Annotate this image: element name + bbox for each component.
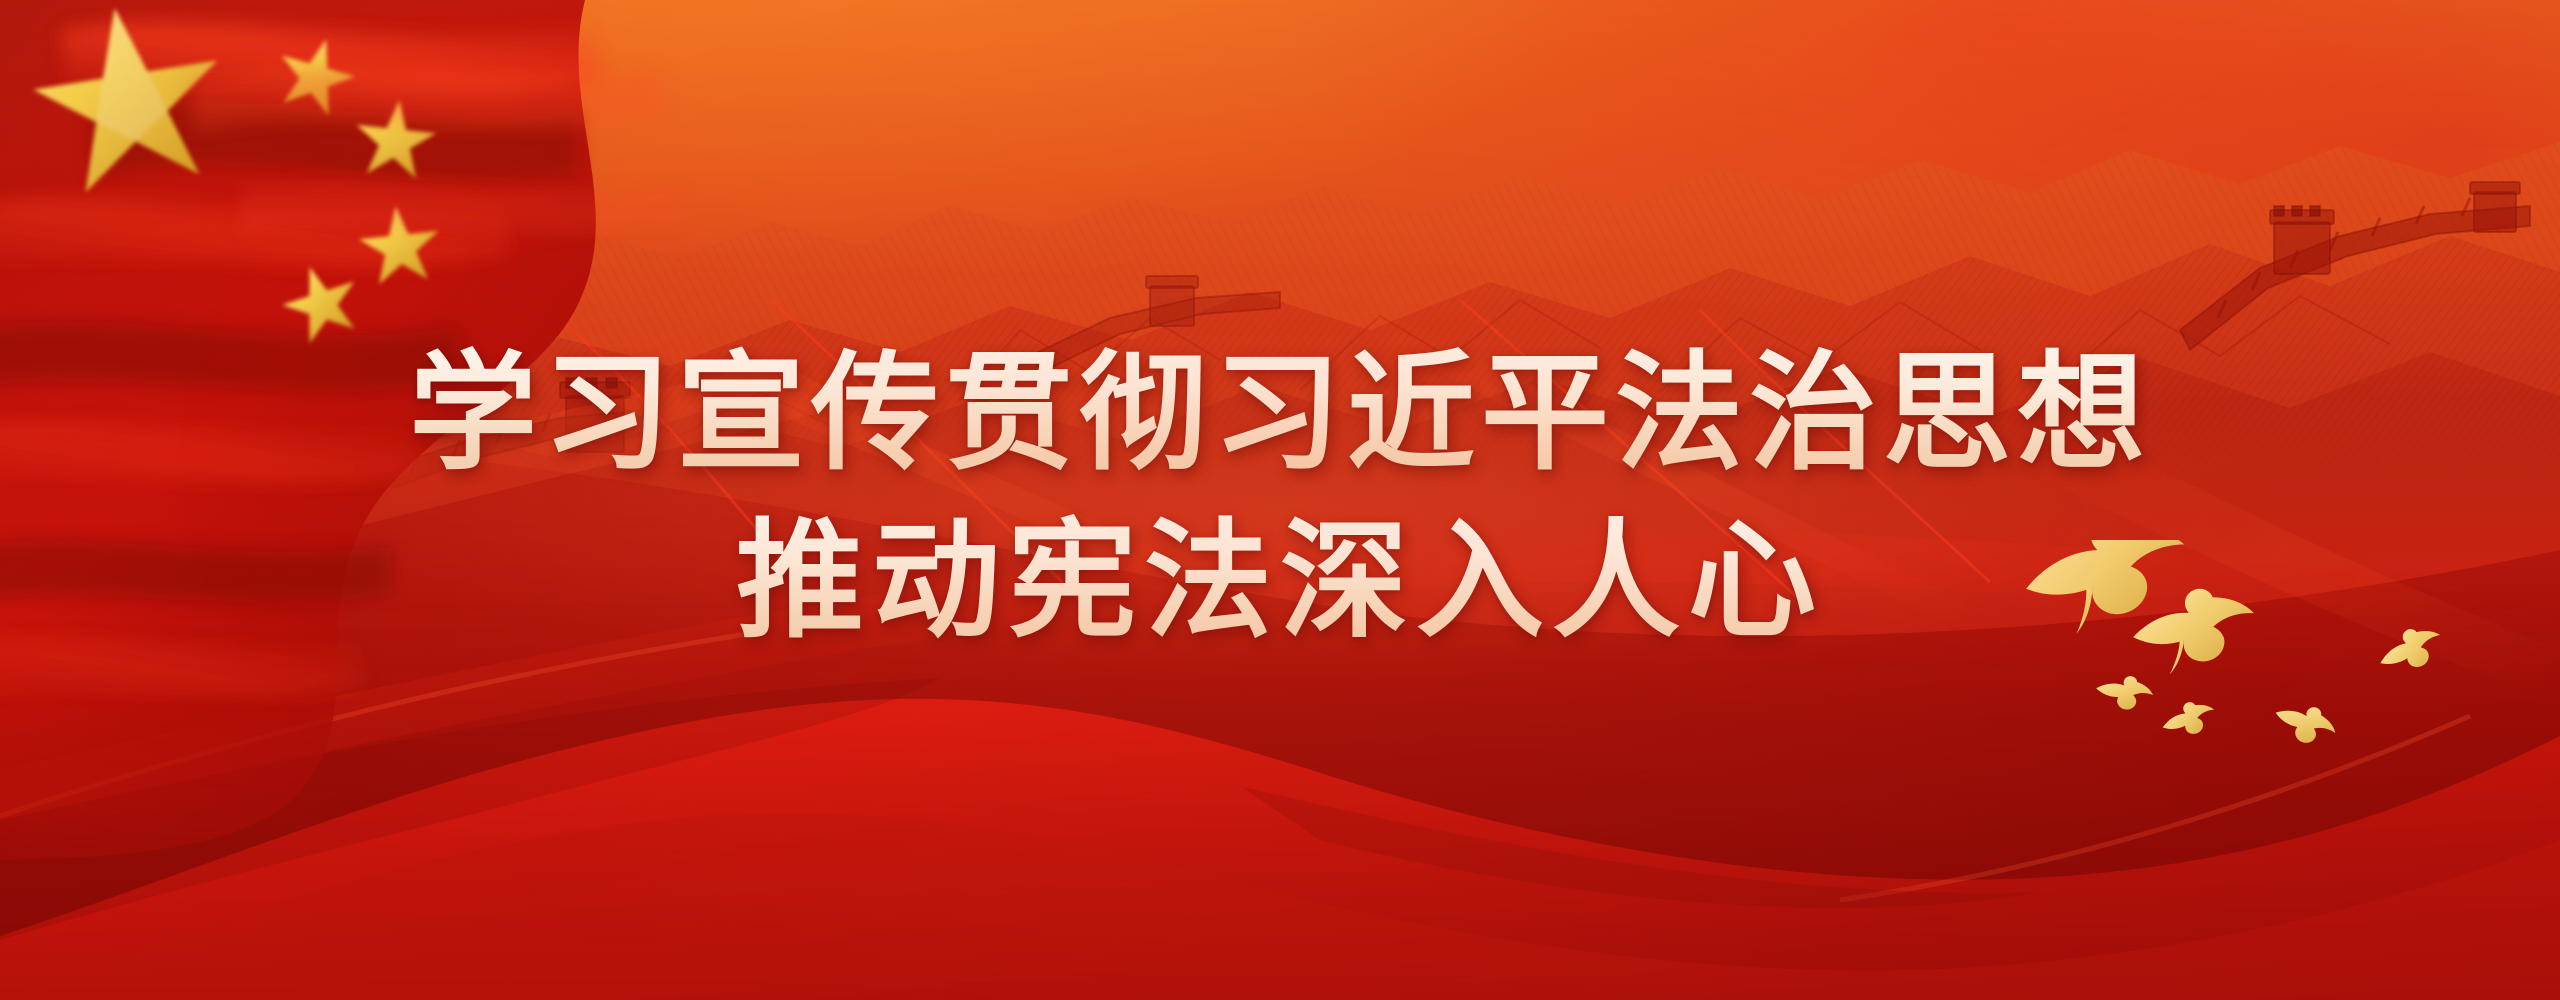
poster-banner: 学习宣传贯彻习近平法治思想 推动宪法深入人心	[0, 0, 2560, 1000]
peace-doves-group	[1980, 540, 2500, 840]
